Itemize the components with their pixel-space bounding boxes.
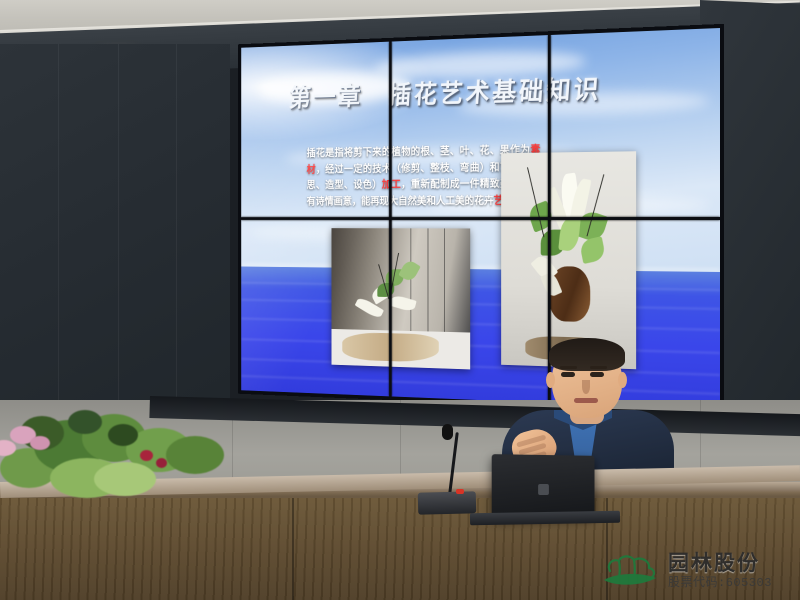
laptop-logo-icon xyxy=(538,484,549,495)
presenter-ear-left xyxy=(546,372,555,388)
floral-decoration xyxy=(0,402,250,512)
presenter-ear-right xyxy=(618,372,627,388)
slide-photo-vase-arrangement xyxy=(501,151,636,369)
photo-scene: 第一章 插花艺术基础知识 插花是指将剪下来的植物的根、茎、叶、花、果作为素材，经… xyxy=(0,0,800,600)
presenter-mouth xyxy=(574,398,598,403)
presenter-brow-right xyxy=(590,366,607,369)
watermark-stock-code: 股票代码:605303 xyxy=(668,577,772,589)
presenter-eye-right xyxy=(590,372,604,377)
watermark-company-name: 园林股份 xyxy=(668,553,772,574)
presenter-nose xyxy=(582,380,590,394)
microphone-status-led xyxy=(456,489,464,494)
presenter-brow-left xyxy=(560,366,577,369)
laptop-screen[interactable] xyxy=(492,454,595,518)
slide-photo-ikebana-driftwood xyxy=(331,228,470,369)
microphone-capsule-icon xyxy=(442,424,453,440)
video-wall-bezel-h1 xyxy=(241,217,720,220)
presenter-eye-left xyxy=(561,372,575,377)
watermark: 园林股份 股票代码:605303 xyxy=(600,544,796,598)
green-tree-leaf-icon xyxy=(600,551,662,591)
microphone-base[interactable] xyxy=(418,491,477,515)
body-seg-0: 插花是指将剪下来的植物的根、茎、叶、花、果作为 xyxy=(307,144,531,159)
